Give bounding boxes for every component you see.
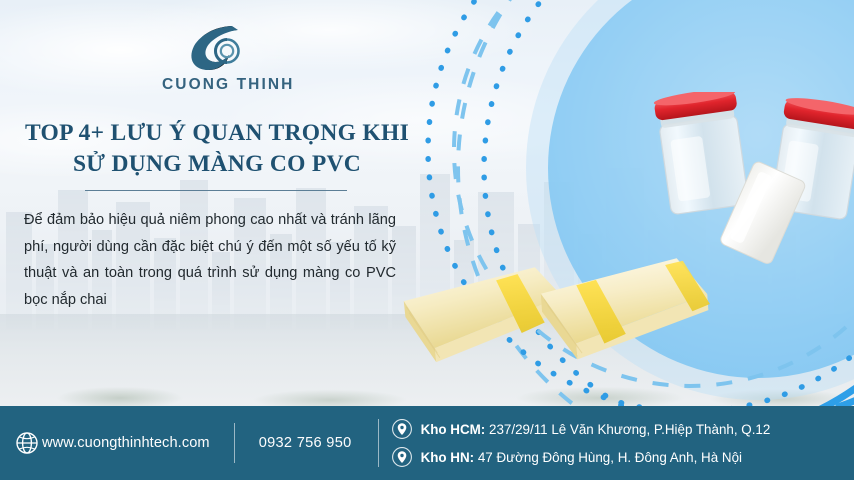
headline-line-1: TOP 4+ LƯU Ý QUAN TRỌNG KHI [22, 118, 412, 149]
location-pin-icon [391, 418, 413, 440]
pvc-film-stacks-image [392, 248, 722, 388]
brand-logo: CUONG THINH [162, 24, 272, 94]
brand-name: CUONG THINH [162, 76, 272, 94]
contact-footer: www.cuongthinhtech.com 0932 756 950 Kho … [0, 406, 854, 480]
location-pin-icon [391, 446, 413, 468]
address-hn-label: Kho HN: [421, 450, 475, 465]
film-stack-right [539, 256, 713, 361]
footer-divider-2 [378, 419, 379, 467]
website-text: www.cuongthinhtech.com [42, 435, 210, 451]
description-text: Để đảm bảo hiệu quả niêm phong cao nhất … [24, 207, 396, 313]
address-row-hcm: Kho HCM: 237/29/11 Lê Văn Khương, P.Hiệp… [391, 418, 771, 440]
film-stack-left [402, 265, 568, 365]
page-title: TOP 4+ LƯU Ý QUAN TRỌNG KHI SỬ DỤNG MÀNG… [22, 118, 412, 180]
banner-root: CUONG THINH TOP 4+ LƯU Ý QUAN TRỌNG KHI … [0, 0, 854, 480]
phone-text[interactable]: 0932 756 950 [259, 435, 352, 451]
description-paragraph: Để đảm bảo hiệu quả niêm phong cao nhất … [24, 207, 396, 313]
headline-line-2: SỬ DỤNG MÀNG CO PVC [22, 149, 412, 180]
website-block[interactable]: www.cuongthinhtech.com [14, 430, 210, 456]
address-row-hn: Kho HN: 47 Đường Đông Hùng, H. Đông Anh,… [391, 446, 771, 468]
product-jars-image [640, 92, 854, 272]
address-hcm-value: 237/29/11 Lê Văn Khương, P.Hiệp Thành, Q… [489, 422, 770, 437]
address-hn-value: 47 Đường Đông Hùng, H. Đông Anh, Hà Nội [478, 450, 742, 465]
footer-divider-1 [234, 423, 235, 463]
address-hn-text: Kho HN: 47 Đường Đông Hùng, H. Đông Anh,… [421, 450, 742, 465]
cuong-thinh-wing-c-logo-icon [175, 24, 259, 72]
address-list: Kho HCM: 237/29/11 Lê Văn Khương, P.Hiệp… [391, 418, 771, 468]
address-hcm-label: Kho HCM: [421, 422, 486, 437]
title-divider [85, 190, 347, 191]
globe-icon [14, 430, 40, 456]
address-hcm-text: Kho HCM: 237/29/11 Lê Văn Khương, P.Hiệp… [421, 422, 771, 437]
glass-jar-left [653, 92, 751, 215]
